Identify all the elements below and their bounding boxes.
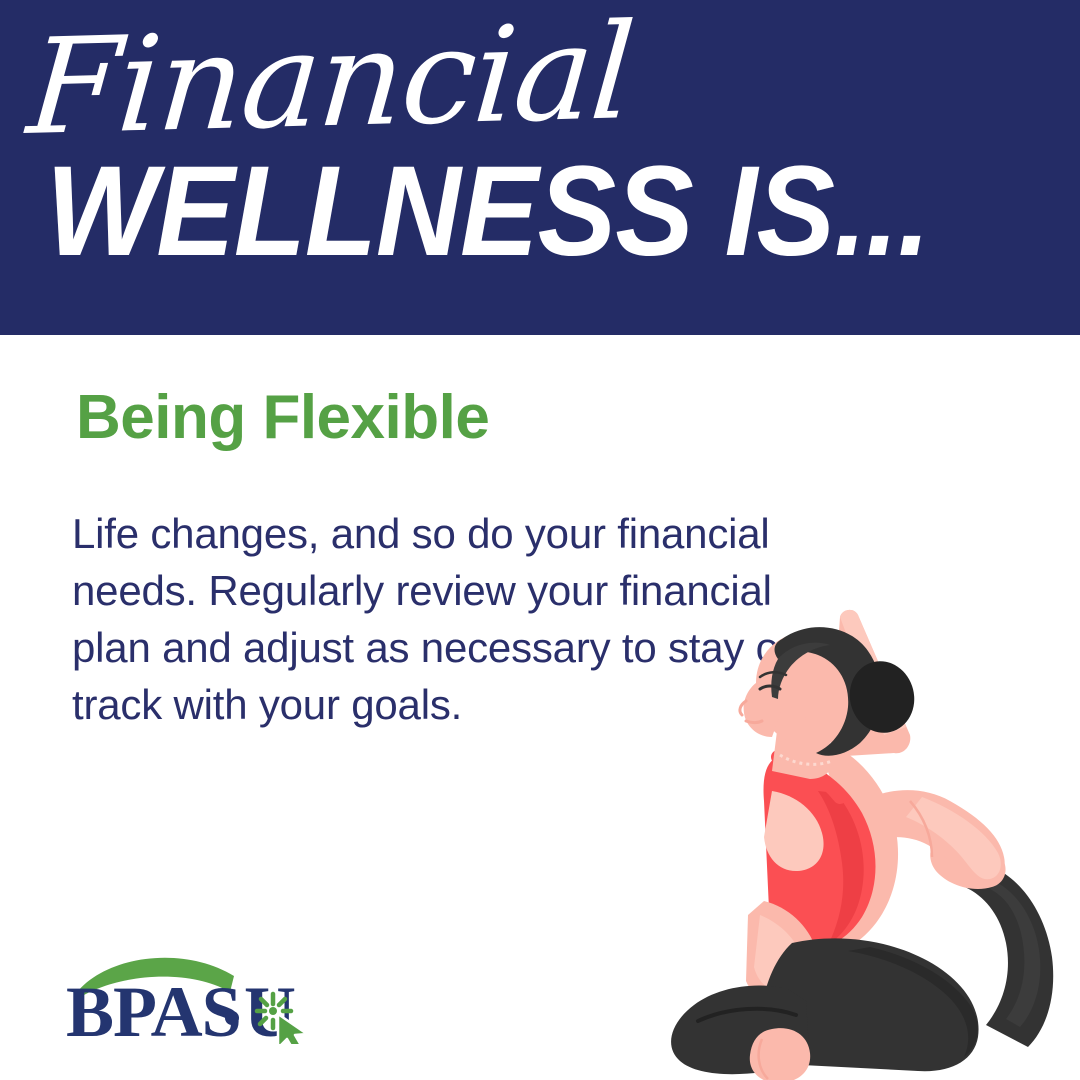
headline-wellness-is: WELLNESS IS... — [46, 148, 929, 276]
poster-canvas: Financial WELLNESS IS... Being Flexible … — [0, 0, 1080, 1080]
logo-wordmark-bpas: BPAS — [66, 972, 241, 1044]
figure-lips — [746, 721, 762, 723]
yoga-illustration-svg — [660, 605, 1080, 1080]
bpas-u-logo: BPAS U — [62, 948, 342, 1044]
bpas-u-logo-svg: BPAS U — [62, 948, 342, 1044]
yoga-illustration — [660, 605, 1080, 1080]
content-heading: Being Flexible — [76, 385, 489, 452]
script-title-financial: Financial — [24, 6, 637, 154]
logo-starburst-center — [269, 1007, 277, 1015]
header-banner: Financial WELLNESS IS... — [0, 0, 1080, 335]
logo-separator-dot — [225, 1011, 239, 1025]
